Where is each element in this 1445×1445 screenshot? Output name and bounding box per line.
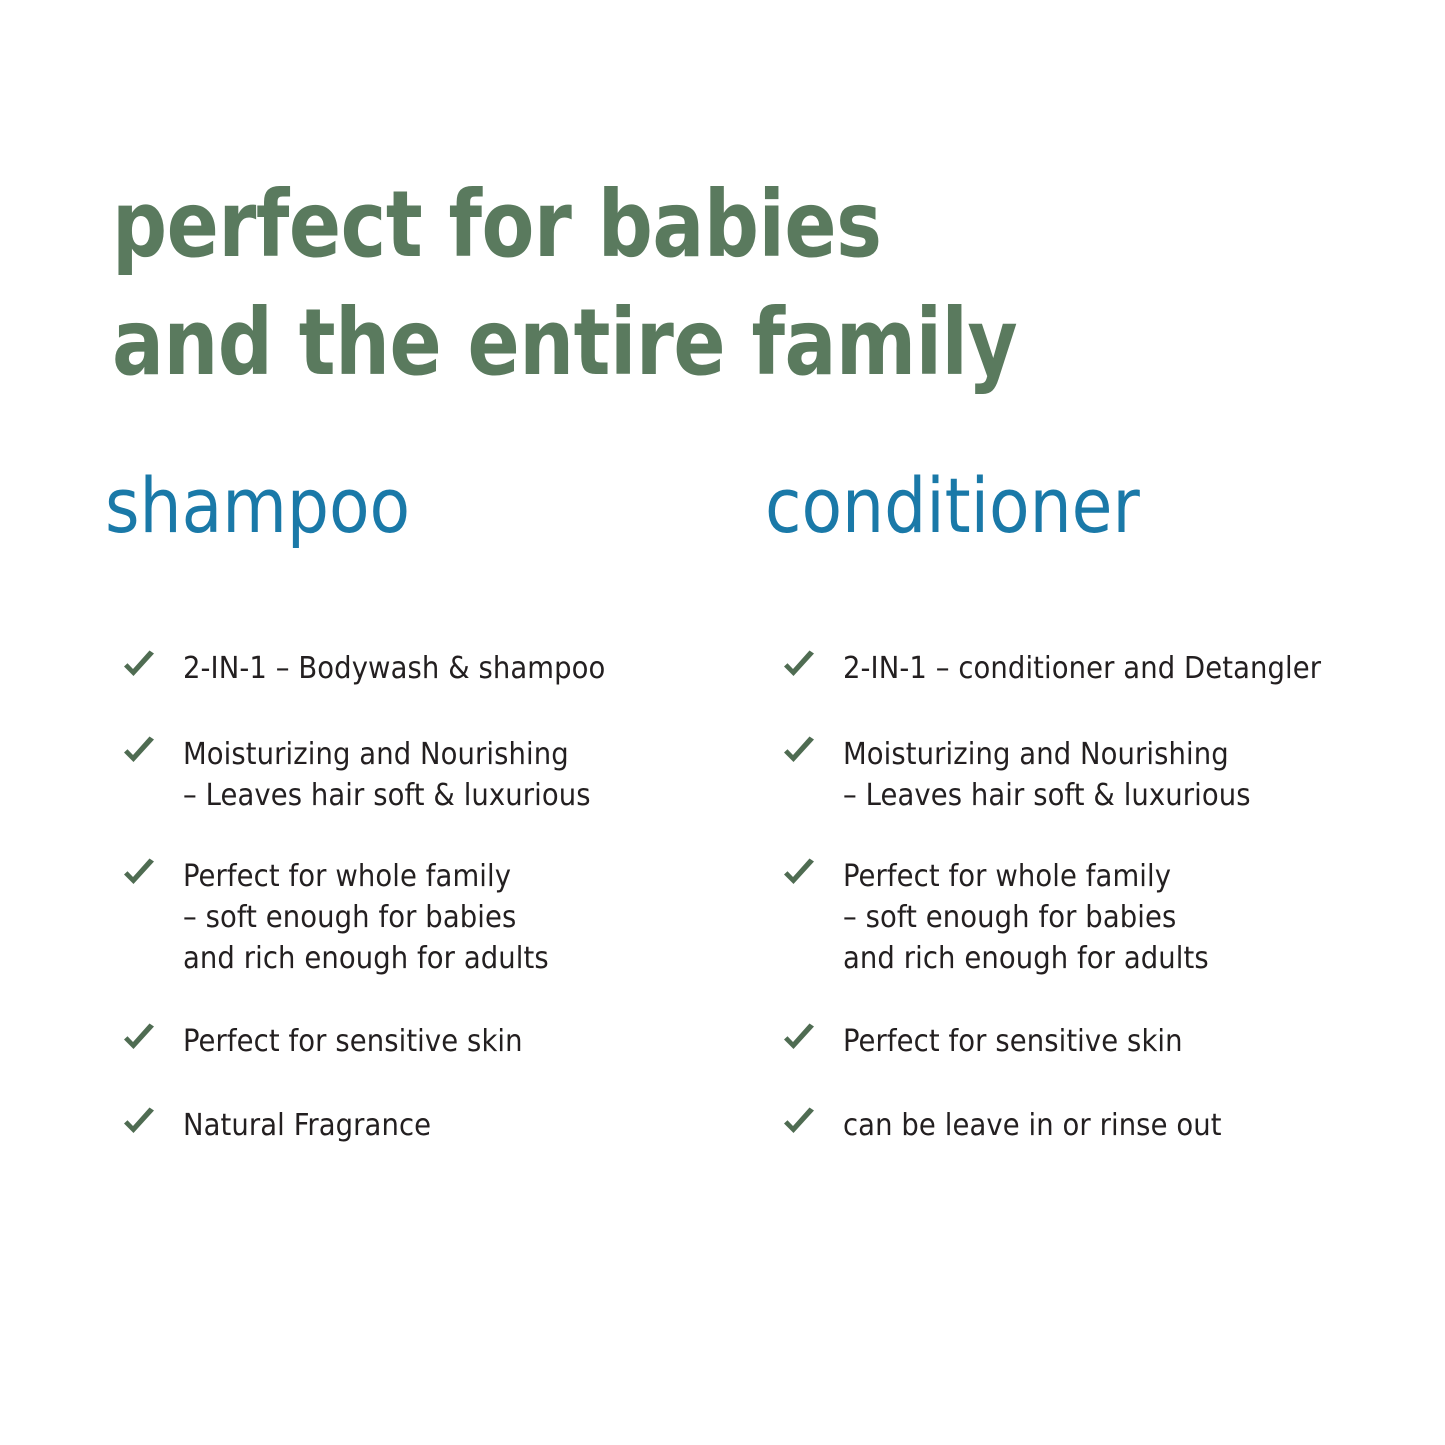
shampoo-feature-list: 2-IN-1 – Bodywash & shampoo Moisturizing… [105,648,725,1149]
list-item: Perfect for sensitive skin [765,1021,1405,1065]
list-item: Moisturizing and Nourishing – Leaves hai… [765,734,1405,816]
check-icon [782,650,816,680]
list-item-label: can be leave in or rinse out [843,1108,1222,1143]
shampoo-column: shampoo 2-IN-1 – Bodywash & shampoo [105,466,725,546]
conditioner-heading: conditioner [765,466,1386,546]
list-item-label: Natural Fragrance [183,1108,431,1143]
page-title: perfect for babies and the entire family [112,166,1135,402]
list-item: Perfect for whole family – soft enough f… [105,856,725,979]
check-icon [782,858,816,888]
list-item-label: Perfect for whole family – soft enough f… [843,859,1209,976]
list-item-label: Moisturizing and Nourishing – Leaves hai… [843,737,1251,813]
list-item: Perfect for sensitive skin [105,1021,725,1065]
list-item: 2-IN-1 – conditioner and Detangler [765,648,1405,692]
conditioner-feature-list: 2-IN-1 – conditioner and Detangler Moist… [765,648,1405,1149]
check-icon [782,736,816,766]
check-icon [122,736,156,766]
list-item: Perfect for whole family – soft enough f… [765,856,1405,979]
list-item-label: Moisturizing and Nourishing – Leaves hai… [183,737,591,813]
list-item-label: Perfect for sensitive skin [843,1024,1183,1059]
check-icon [782,1023,816,1053]
check-icon [122,1023,156,1053]
page-title-line-2: and the entire family [112,284,1135,402]
list-item-label: Perfect for sensitive skin [183,1024,523,1059]
list-item: Natural Fragrance [105,1105,725,1149]
list-item: 2-IN-1 – Bodywash & shampoo [105,648,725,692]
list-item-label: Perfect for whole family – soft enough f… [183,859,549,976]
list-item: can be leave in or rinse out [765,1105,1405,1149]
list-item-label: 2-IN-1 – Bodywash & shampoo [183,651,605,686]
shampoo-heading: shampoo [105,466,706,546]
list-item: Moisturizing and Nourishing – Leaves hai… [105,734,725,816]
list-item-label: 2-IN-1 – conditioner and Detangler [843,651,1321,686]
product-feature-panel: perfect for babies and the entire family… [0,0,1445,1445]
check-icon [122,858,156,888]
check-icon [782,1107,816,1137]
check-icon [122,650,156,680]
conditioner-column: conditioner 2-IN-1 – conditioner and Det… [765,466,1405,546]
page-title-line-1: perfect for babies [112,166,1135,284]
check-icon [122,1107,156,1137]
